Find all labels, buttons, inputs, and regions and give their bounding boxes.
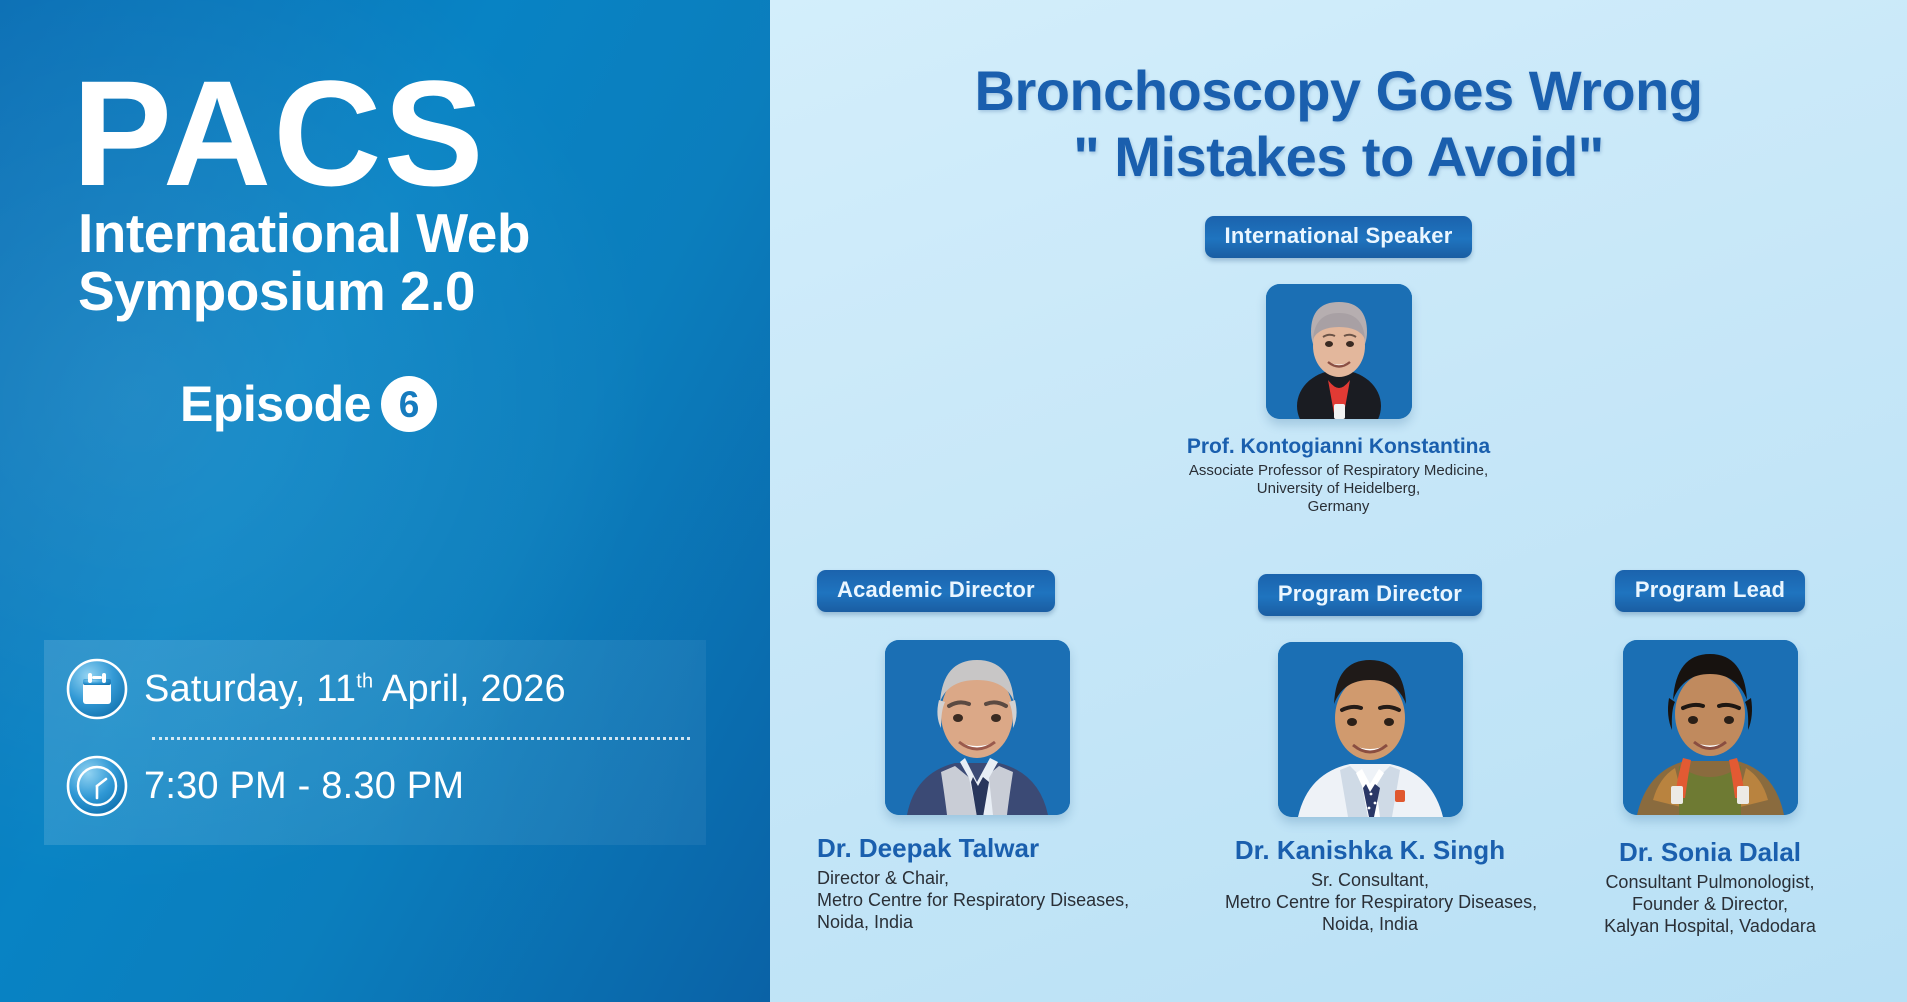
affiliation-line-2: Metro Centre for Respiratory Diseases,	[1225, 892, 1515, 914]
episode-label: Episode	[180, 375, 371, 433]
avatar-deepak-talwar	[885, 640, 1070, 815]
date-prefix: Saturday, 11	[144, 668, 356, 710]
role-badge-program-lead: Program Lead	[1615, 570, 1805, 612]
affiliation-line-1: Associate Professor of Respiratory Medic…	[1189, 462, 1488, 480]
affiliation-line-3: Kalyan Hospital, Vadodara	[1560, 916, 1860, 938]
title-line1: Bronchoscopy Goes Wrong	[770, 58, 1907, 124]
badge-wrap-program-lead: Program Lead	[1560, 570, 1860, 612]
role-badge-program-director: Program Director	[1258, 574, 1482, 616]
speaker-affiliation-international: Associate Professor of Respiratory Medic…	[1189, 462, 1488, 516]
badge-wrap-program-director: Program Director	[1225, 574, 1515, 616]
role-badge-academic-director: Academic Director	[817, 570, 1055, 612]
page-title: Bronchoscopy Goes Wrong " Mistakes to Av…	[770, 58, 1907, 189]
avatar-sonia-dalal	[1623, 640, 1798, 815]
international-speaker-card: International Speaker Prof. Kontogianni …	[770, 216, 1907, 516]
schedule-date: Saturday, 11th April, 2026	[144, 668, 566, 711]
episode-indicator: Episode 6	[180, 375, 437, 433]
webinar-poster: PACS International Web Symposium 2.0 Epi…	[0, 0, 1907, 1002]
affiliation-line-2: Metro Centre for Respiratory Diseases,	[817, 890, 1129, 912]
speaker-card-academic-director: Academic Director Dr. Deepak Talwar	[817, 570, 1129, 934]
schedule-time: 7:30 PM - 8.30 PM	[144, 765, 464, 808]
affiliation-line-2: Founder & Director,	[1560, 894, 1860, 916]
speaker-affiliation-program-director: Sr. Consultant, Metro Centre for Respira…	[1225, 870, 1515, 936]
affiliation-line-3: Noida, India	[1225, 914, 1515, 936]
title-line2: " Mistakes to Avoid"	[770, 124, 1907, 190]
avatar-kontogianni-konstantina	[1266, 284, 1412, 419]
speaker-name-program-director: Dr. Kanishka K. Singh	[1225, 835, 1515, 866]
schedule-divider	[152, 737, 690, 740]
speaker-name-academic-director: Dr. Deepak Talwar	[817, 833, 1129, 864]
brand-subtitle: International Web Symposium 2.0	[78, 205, 530, 321]
speaker-card-program-lead: Program Lead	[1560, 570, 1860, 938]
date-suffix: April, 2026	[373, 668, 566, 710]
brand-panel: PACS International Web Symposium 2.0 Epi…	[0, 0, 770, 1002]
affiliation-line-3: Germany	[1189, 498, 1488, 516]
schedule-date-row: Saturday, 11th April, 2026	[66, 658, 566, 720]
affiliation-line-1: Director & Chair,	[817, 868, 1129, 890]
schedule-time-row: 7:30 PM - 8.30 PM	[66, 755, 464, 817]
brand-acronym: PACS	[72, 58, 486, 208]
speaker-affiliation-program-lead: Consultant Pulmonologist, Founder & Dire…	[1560, 872, 1860, 938]
calendar-icon	[66, 658, 128, 720]
date-ordinal: th	[356, 670, 373, 692]
affiliation-line-1: Sr. Consultant,	[1225, 870, 1515, 892]
role-badge-international-speaker: International Speaker	[1205, 216, 1473, 258]
speaker-name-international: Prof. Kontogianni Konstantina	[1187, 435, 1490, 459]
affiliation-line-3: Noida, India	[817, 912, 1129, 934]
affiliation-line-2: University of Heidelberg,	[1189, 480, 1488, 498]
brand-subtitle-line1: International Web	[78, 205, 530, 263]
speaker-name-program-lead: Dr. Sonia Dalal	[1560, 837, 1860, 868]
avatar-kanishka-k-singh	[1278, 642, 1463, 817]
brand-subtitle-line2: Symposium 2.0	[78, 263, 530, 321]
clock-icon	[66, 755, 128, 817]
speaker-affiliation-academic-director: Director & Chair, Metro Centre for Respi…	[817, 868, 1129, 934]
speaker-card-program-director: Program Director Dr. Ka	[1225, 574, 1515, 936]
episode-number-badge: 6	[381, 376, 437, 432]
affiliation-line-1: Consultant Pulmonologist,	[1560, 872, 1860, 894]
schedule-panel: Saturday, 11th April, 2026	[44, 640, 706, 845]
